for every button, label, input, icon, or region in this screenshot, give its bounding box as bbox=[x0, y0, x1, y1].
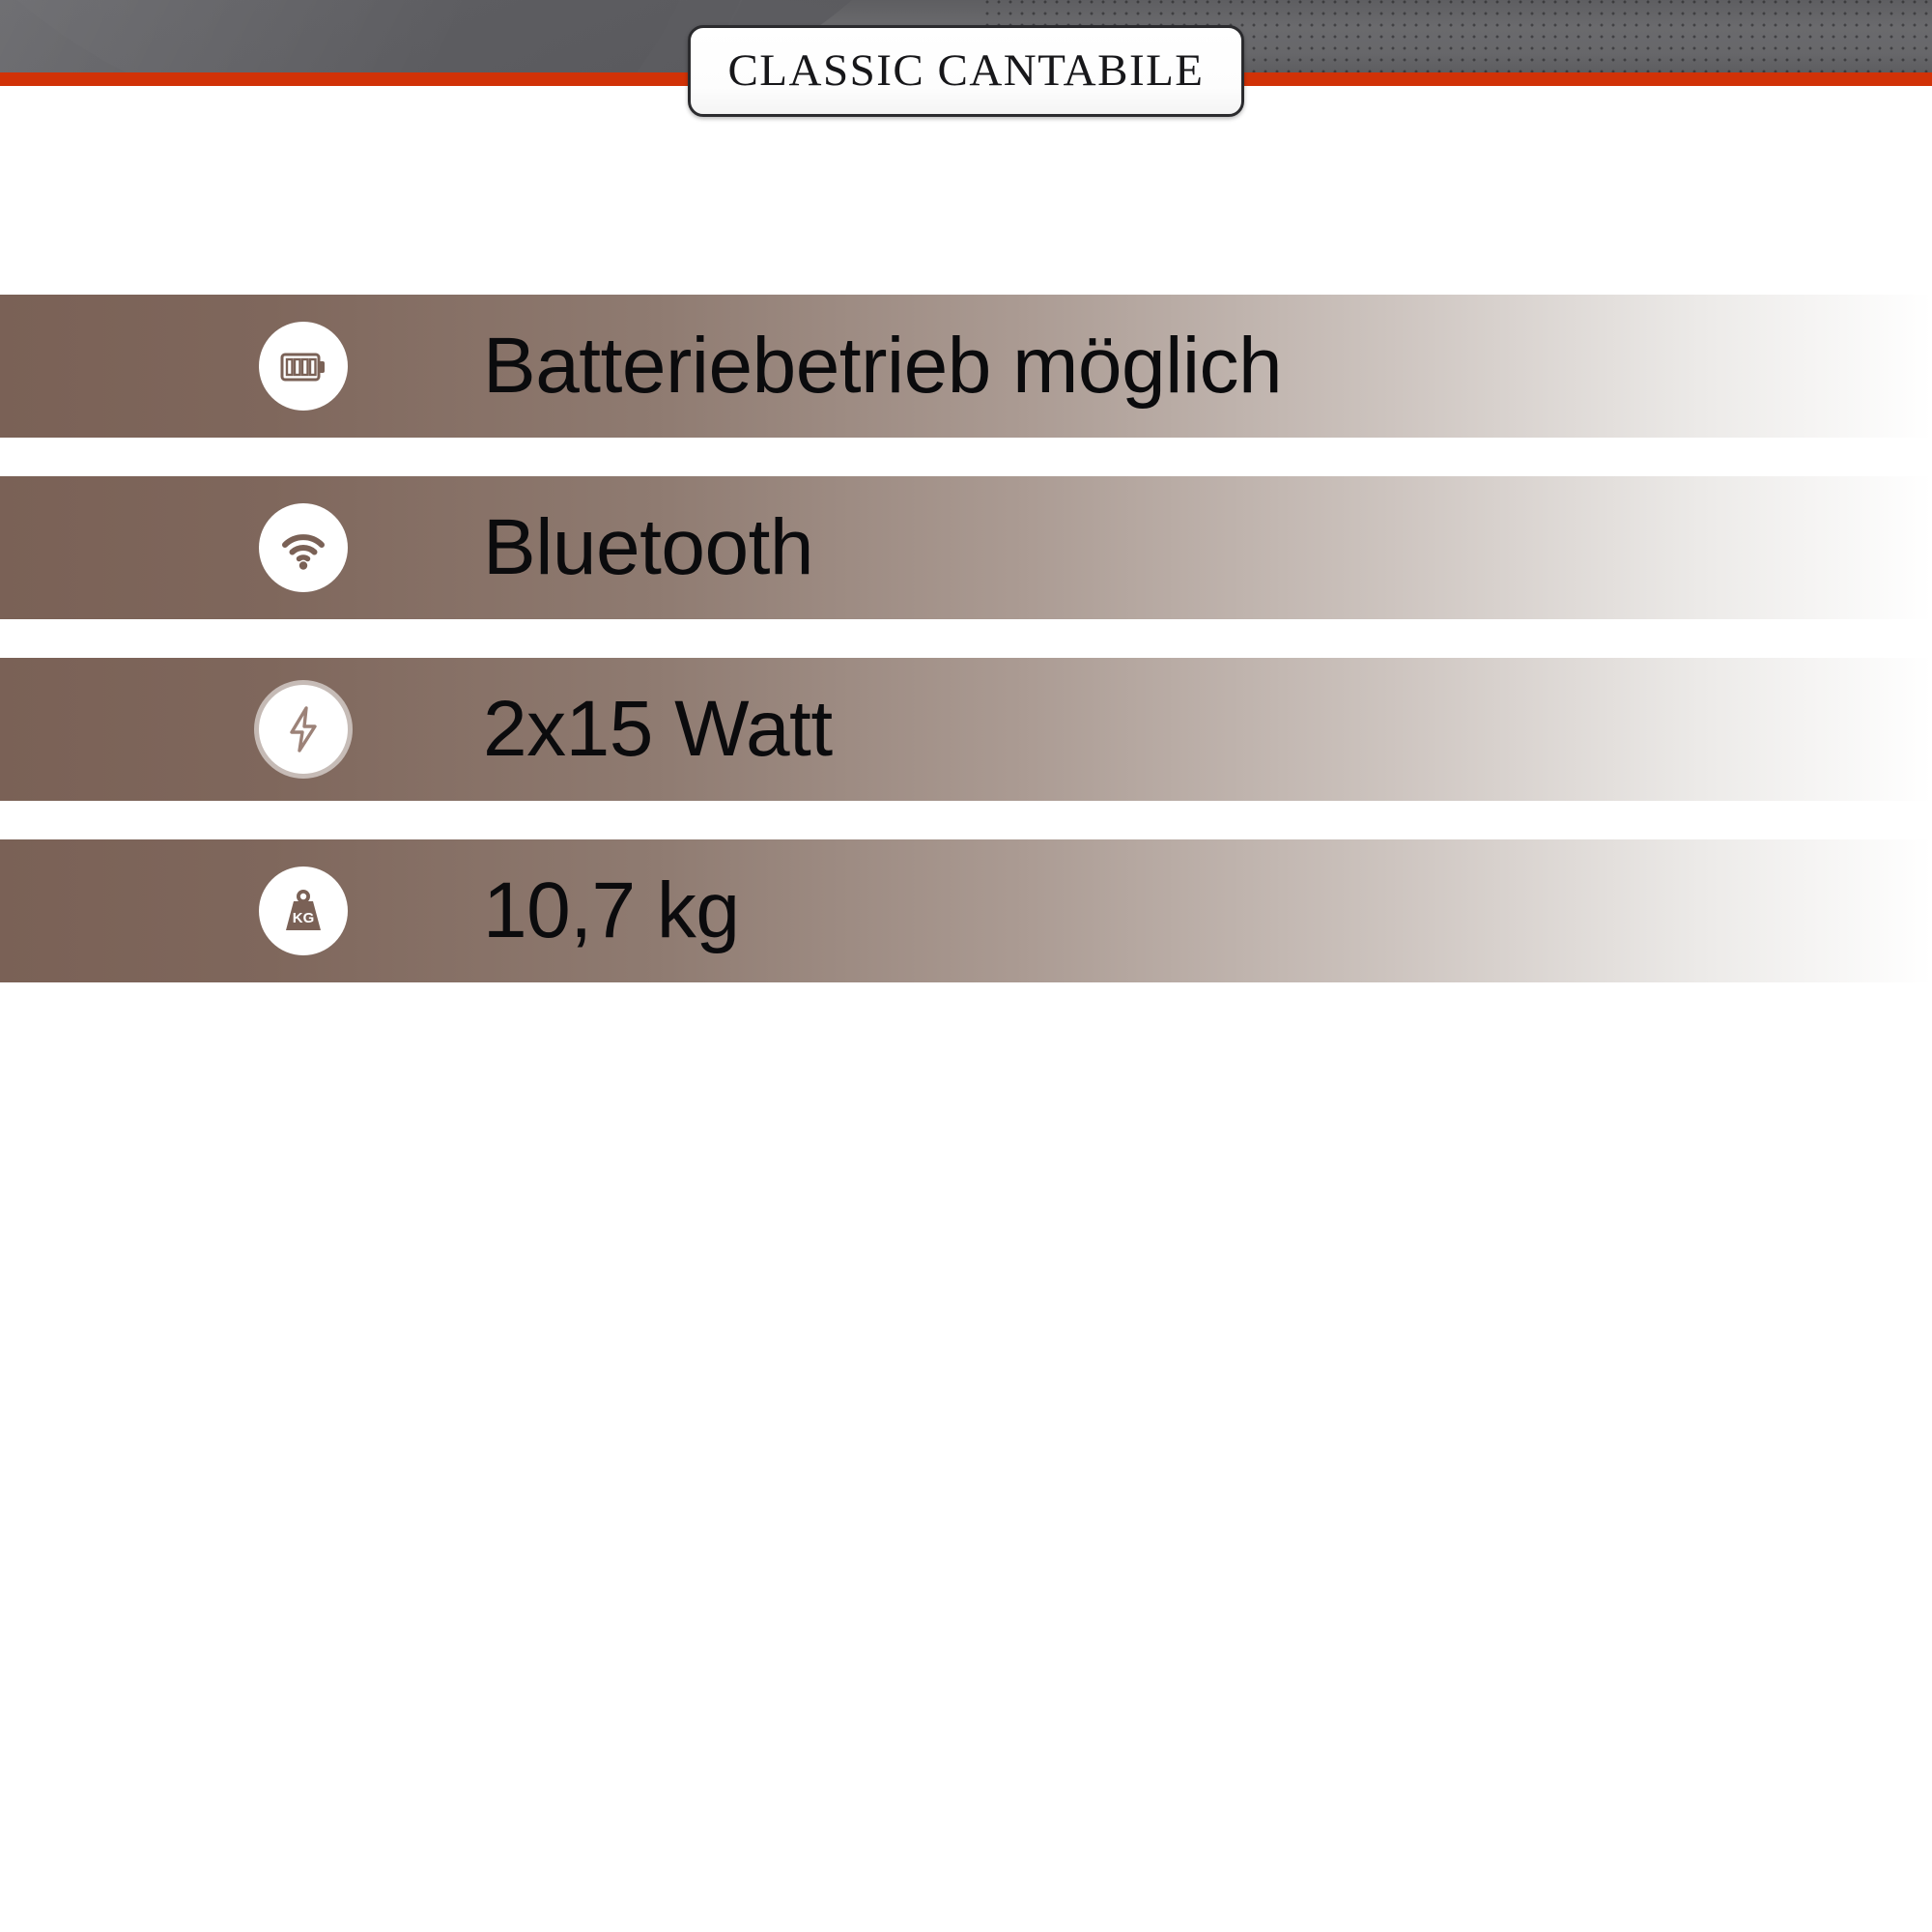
brand-logo-plaque: CLASSIC CANTABILE bbox=[688, 25, 1244, 117]
power-bolt-icon bbox=[259, 685, 348, 774]
battery-icon bbox=[259, 322, 348, 411]
weight-icon-text: KG bbox=[293, 910, 315, 926]
bluetooth-signal-icon bbox=[259, 503, 348, 592]
feature-bar-battery: Batteriebetrieb möglich bbox=[0, 295, 1932, 438]
product-dimension-diagram: CLASSIC CANTABILE 10,5 cm 24 cm 132 cm bbox=[0, 1014, 1932, 1710]
feature-label-weight: 10,7 kg bbox=[483, 871, 739, 951]
feature-label-battery: Batteriebetrieb möglich bbox=[483, 327, 1282, 406]
feature-bar-power: 2x15 Watt bbox=[0, 658, 1932, 801]
weight-kg-icon: KG bbox=[259, 867, 348, 955]
feature-label-bluetooth: Bluetooth bbox=[483, 508, 813, 587]
feature-bar-bluetooth: Bluetooth bbox=[0, 476, 1932, 619]
feature-list: Batteriebetrieb möglich Bluetooth 2x1 bbox=[0, 295, 1932, 982]
product-infographic: CLASSIC CANTABILE Batteriebetrieb möglic… bbox=[0, 0, 1932, 1932]
header-sheen bbox=[0, 0, 734, 75]
feature-bar-weight: KG 10,7 kg bbox=[0, 839, 1932, 982]
brand-logo-text: CLASSIC CANTABILE bbox=[727, 48, 1204, 94]
feature-label-power: 2x15 Watt bbox=[483, 690, 833, 769]
